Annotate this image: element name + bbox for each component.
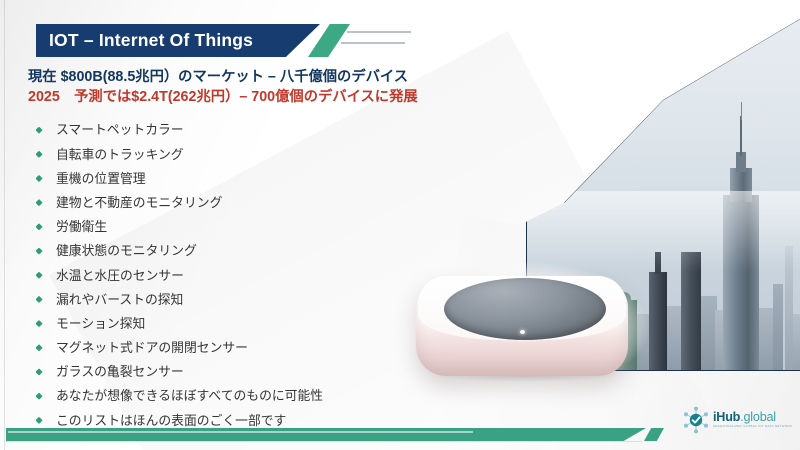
diamond-bullet-icon bbox=[30, 296, 48, 303]
list-item: あなたが想像できるほぼすべてのものに可能性 bbox=[30, 384, 450, 408]
list-item: 健康状態のモニタリング bbox=[30, 239, 450, 263]
ihub-global-logo: iHub.global DECENTRALIZED GLOBAL IOT DAT… bbox=[681, 404, 789, 436]
list-item: 重機の位置管理 bbox=[30, 166, 450, 190]
diamond-bullet-icon bbox=[30, 127, 48, 134]
list-item-label: ガラスの亀裂センサー bbox=[48, 364, 184, 379]
list-item-label: 自転車のトラッキング bbox=[48, 147, 184, 162]
list-item-label: 建物と不動産のモニタリング bbox=[48, 195, 222, 210]
footer-bar-highlight bbox=[8, 431, 473, 433]
list-item: ガラスの亀裂センサー bbox=[30, 360, 450, 384]
subtitle-line-2: 2025 予測では$2.4T(262兆円）– 700億個のデバイスに発展 bbox=[28, 88, 548, 108]
device-led-indicator bbox=[520, 330, 525, 334]
logo-tagline: DECENTRALIZED GLOBAL IOT DATA NETWORK bbox=[713, 424, 792, 429]
logo-wordmark: iHub.global bbox=[713, 411, 792, 424]
logo-name-bold: iHub bbox=[713, 410, 740, 424]
title-banner: IOT – Internet Of Things bbox=[36, 24, 320, 57]
list-item-label: 健康状態のモニタリング bbox=[48, 243, 197, 258]
list-item-label: モーション探知 bbox=[48, 316, 145, 331]
list-item-label: 水温と水圧のセンサー bbox=[48, 268, 184, 283]
diamond-bullet-icon bbox=[30, 151, 48, 158]
diamond-bullet-icon bbox=[30, 368, 48, 375]
bullet-list: スマートペットカラー 自転車のトラッキング 重機の位置管理 建物と不動産のモニタ… bbox=[30, 118, 450, 432]
diamond-bullet-icon bbox=[30, 248, 48, 255]
footer-bar bbox=[6, 428, 646, 441]
footer-bar-underline bbox=[6, 441, 642, 442]
device-oval-panel bbox=[444, 278, 606, 340]
diamond-bullet-icon bbox=[30, 417, 48, 424]
subtitle-block: 現在 $800B(88.5兆円）のマーケット – 八千億個のデバイス 2025 … bbox=[28, 68, 548, 107]
list-item-label: 漏れやバーストの探知 bbox=[48, 292, 183, 307]
slide-canvas: IOT – Internet Of Things 現在 $800B(88.5兆円… bbox=[0, 0, 800, 450]
left-edge-rule bbox=[4, 0, 5, 450]
logo-name-rest: .global bbox=[740, 410, 776, 424]
list-item: スマートペットカラー bbox=[30, 118, 450, 142]
footer-bar-chevron bbox=[644, 428, 664, 441]
diamond-bullet-icon bbox=[30, 199, 48, 206]
empire-state-building-spire bbox=[740, 116, 742, 156]
diamond-bullet-icon bbox=[30, 393, 48, 400]
list-item: マグネット式ドアの開閉センサー bbox=[30, 336, 450, 360]
diamond-bullet-icon bbox=[30, 344, 48, 351]
diamond-bullet-icon bbox=[30, 320, 48, 327]
banner-rule-bottom bbox=[341, 42, 405, 44]
list-item: 水温と水圧のセンサー bbox=[30, 263, 450, 287]
logo-text-wrap: iHub.global DECENTRALIZED GLOBAL IOT DAT… bbox=[711, 411, 792, 429]
empire-state-building-antenna bbox=[741, 102, 742, 120]
list-item: 漏れやバーストの探知 bbox=[30, 287, 450, 311]
hub-network-icon bbox=[681, 405, 711, 435]
list-item-label: スマートペットカラー bbox=[48, 122, 184, 137]
diamond-bullet-icon bbox=[30, 223, 48, 230]
list-item-label: マグネット式ドアの開閉センサー bbox=[48, 340, 248, 355]
list-item: 自転車のトラッキング bbox=[30, 142, 450, 166]
list-item-label: あなたが想像できるほぼすべてのものに可能性 bbox=[48, 388, 323, 403]
subtitle-line-1: 現在 $800B(88.5兆円）のマーケット – 八千億個のデバイス bbox=[28, 68, 548, 88]
diamond-bullet-icon bbox=[30, 272, 48, 279]
diamond-bullet-icon bbox=[30, 175, 48, 182]
list-item: モーション探知 bbox=[30, 312, 450, 336]
list-item-label: 重機の位置管理 bbox=[48, 171, 146, 186]
list-item-label: 労働衛生 bbox=[48, 219, 107, 234]
list-item-label: このリストはほんの表面のごく一部です bbox=[48, 413, 286, 428]
banner-rule-top bbox=[347, 31, 411, 33]
list-item: 労働衛生 bbox=[30, 215, 450, 239]
page-title: IOT – Internet Of Things bbox=[36, 30, 253, 51]
list-item: 建物と不動産のモニタリング bbox=[30, 191, 450, 215]
